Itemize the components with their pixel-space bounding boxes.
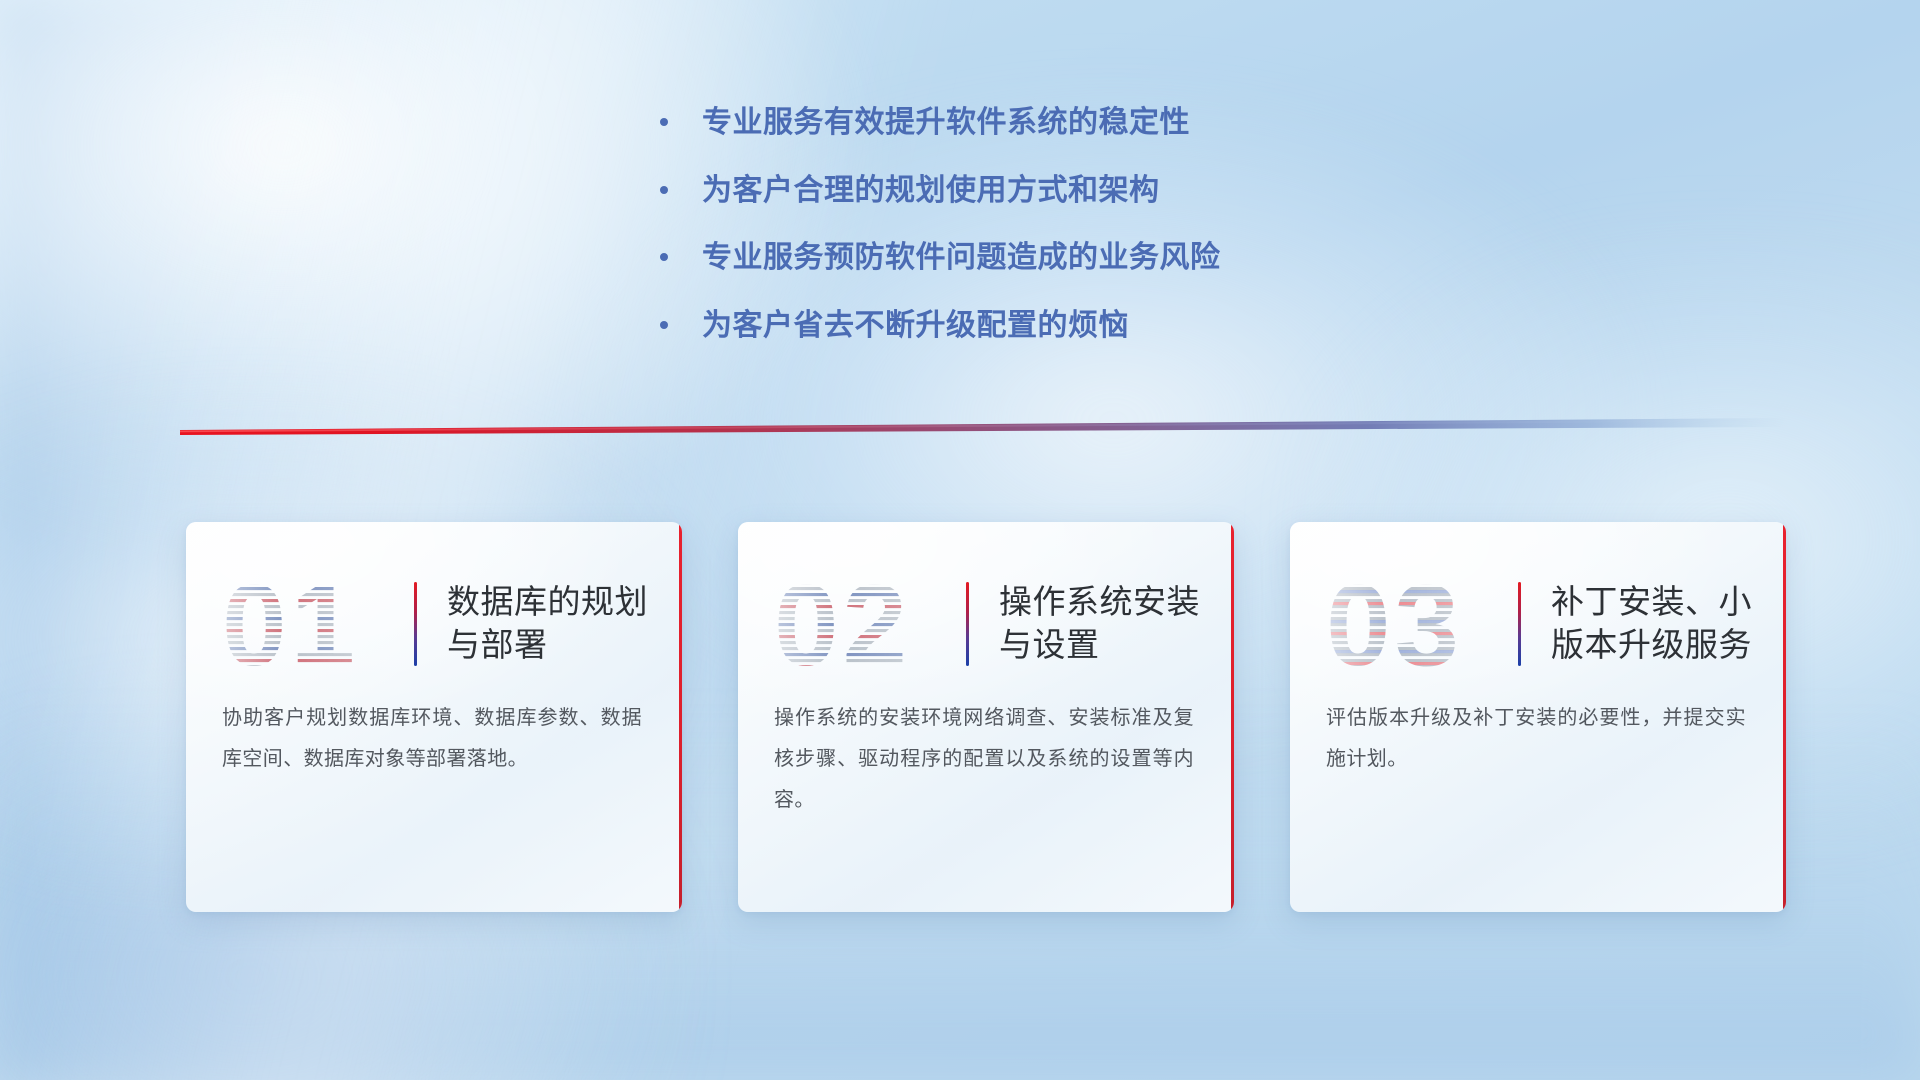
striped-number-icon: 02 02 — [772, 569, 958, 679]
svg-text:02: 02 — [774, 569, 911, 679]
card-title: 操作系统安装与设置 — [999, 581, 1208, 667]
list-item: 为客户合理的规划使用方式和架构 — [660, 172, 1480, 210]
bullet-text: 专业服务有效提升软件系统的稳定性 — [702, 104, 1190, 142]
service-card[interactable]: 02 02 操作系统安装与设置 操作系统的安装环境网络调查、安装标准及复核步骤、… — [738, 522, 1234, 912]
card-description: 协助客户规划数据库环境、数据库参数、数据库空间、数据库对象等部署落地。 — [186, 690, 682, 780]
bullet-dot-icon — [660, 253, 668, 261]
benefits-bullet-list: 专业服务有效提升软件系统的稳定性 为客户合理的规划使用方式和架构 专业服务预防软… — [660, 104, 1480, 374]
list-item: 专业服务有效提升软件系统的稳定性 — [660, 104, 1480, 142]
card-header: 02 02 操作系统安装与设置 — [738, 522, 1234, 690]
card-header: 01 01 数据库的规划与部署 — [186, 522, 682, 690]
card-header: 03 03 补丁安装、小版本升级服务 — [1290, 522, 1786, 690]
card-number-watermark: 01 01 — [220, 569, 406, 679]
card-number-watermark: 03 03 — [1324, 569, 1510, 679]
service-card-list: 01 01 数据库的规划与部署 协助客户规划数据库环境、数据库参数、数据库空间、… — [186, 522, 1786, 912]
list-item: 为客户省去不断升级配置的烦恼 — [660, 307, 1480, 345]
divider-shape-icon — [180, 418, 1786, 440]
card-accent-bar — [1518, 582, 1521, 666]
section-divider — [180, 418, 1786, 440]
card-accent-bar — [966, 582, 969, 666]
svg-text:03: 03 — [1326, 569, 1463, 679]
service-card[interactable]: 03 03 补丁安装、小版本升级服务 评估版本升级及补丁安装的必要性，并提交实施… — [1290, 522, 1786, 912]
svg-text:01: 01 — [222, 569, 359, 679]
striped-number-icon: 01 01 — [220, 569, 406, 679]
card-title: 数据库的规划与部署 — [447, 581, 656, 667]
bullet-text: 为客户省去不断升级配置的烦恼 — [702, 307, 1129, 345]
card-description: 操作系统的安装环境网络调查、安装标准及复核步骤、驱动程序的配置以及系统的设置等内… — [738, 690, 1234, 821]
bullet-dot-icon — [660, 186, 668, 194]
service-card[interactable]: 01 01 数据库的规划与部署 协助客户规划数据库环境、数据库参数、数据库空间、… — [186, 522, 682, 912]
bullet-text: 为客户合理的规划使用方式和架构 — [702, 172, 1160, 210]
card-description: 评估版本升级及补丁安装的必要性，并提交实施计划。 — [1290, 690, 1786, 780]
bullet-dot-icon — [660, 118, 668, 126]
card-number-watermark: 02 02 — [772, 569, 958, 679]
card-title: 补丁安装、小版本升级服务 — [1551, 581, 1760, 667]
list-item: 专业服务预防软件问题造成的业务风险 — [660, 239, 1480, 277]
bullet-text: 专业服务预防软件问题造成的业务风险 — [702, 239, 1221, 277]
striped-number-icon: 03 03 — [1324, 569, 1510, 679]
bullet-dot-icon — [660, 321, 668, 329]
card-accent-bar — [414, 582, 417, 666]
